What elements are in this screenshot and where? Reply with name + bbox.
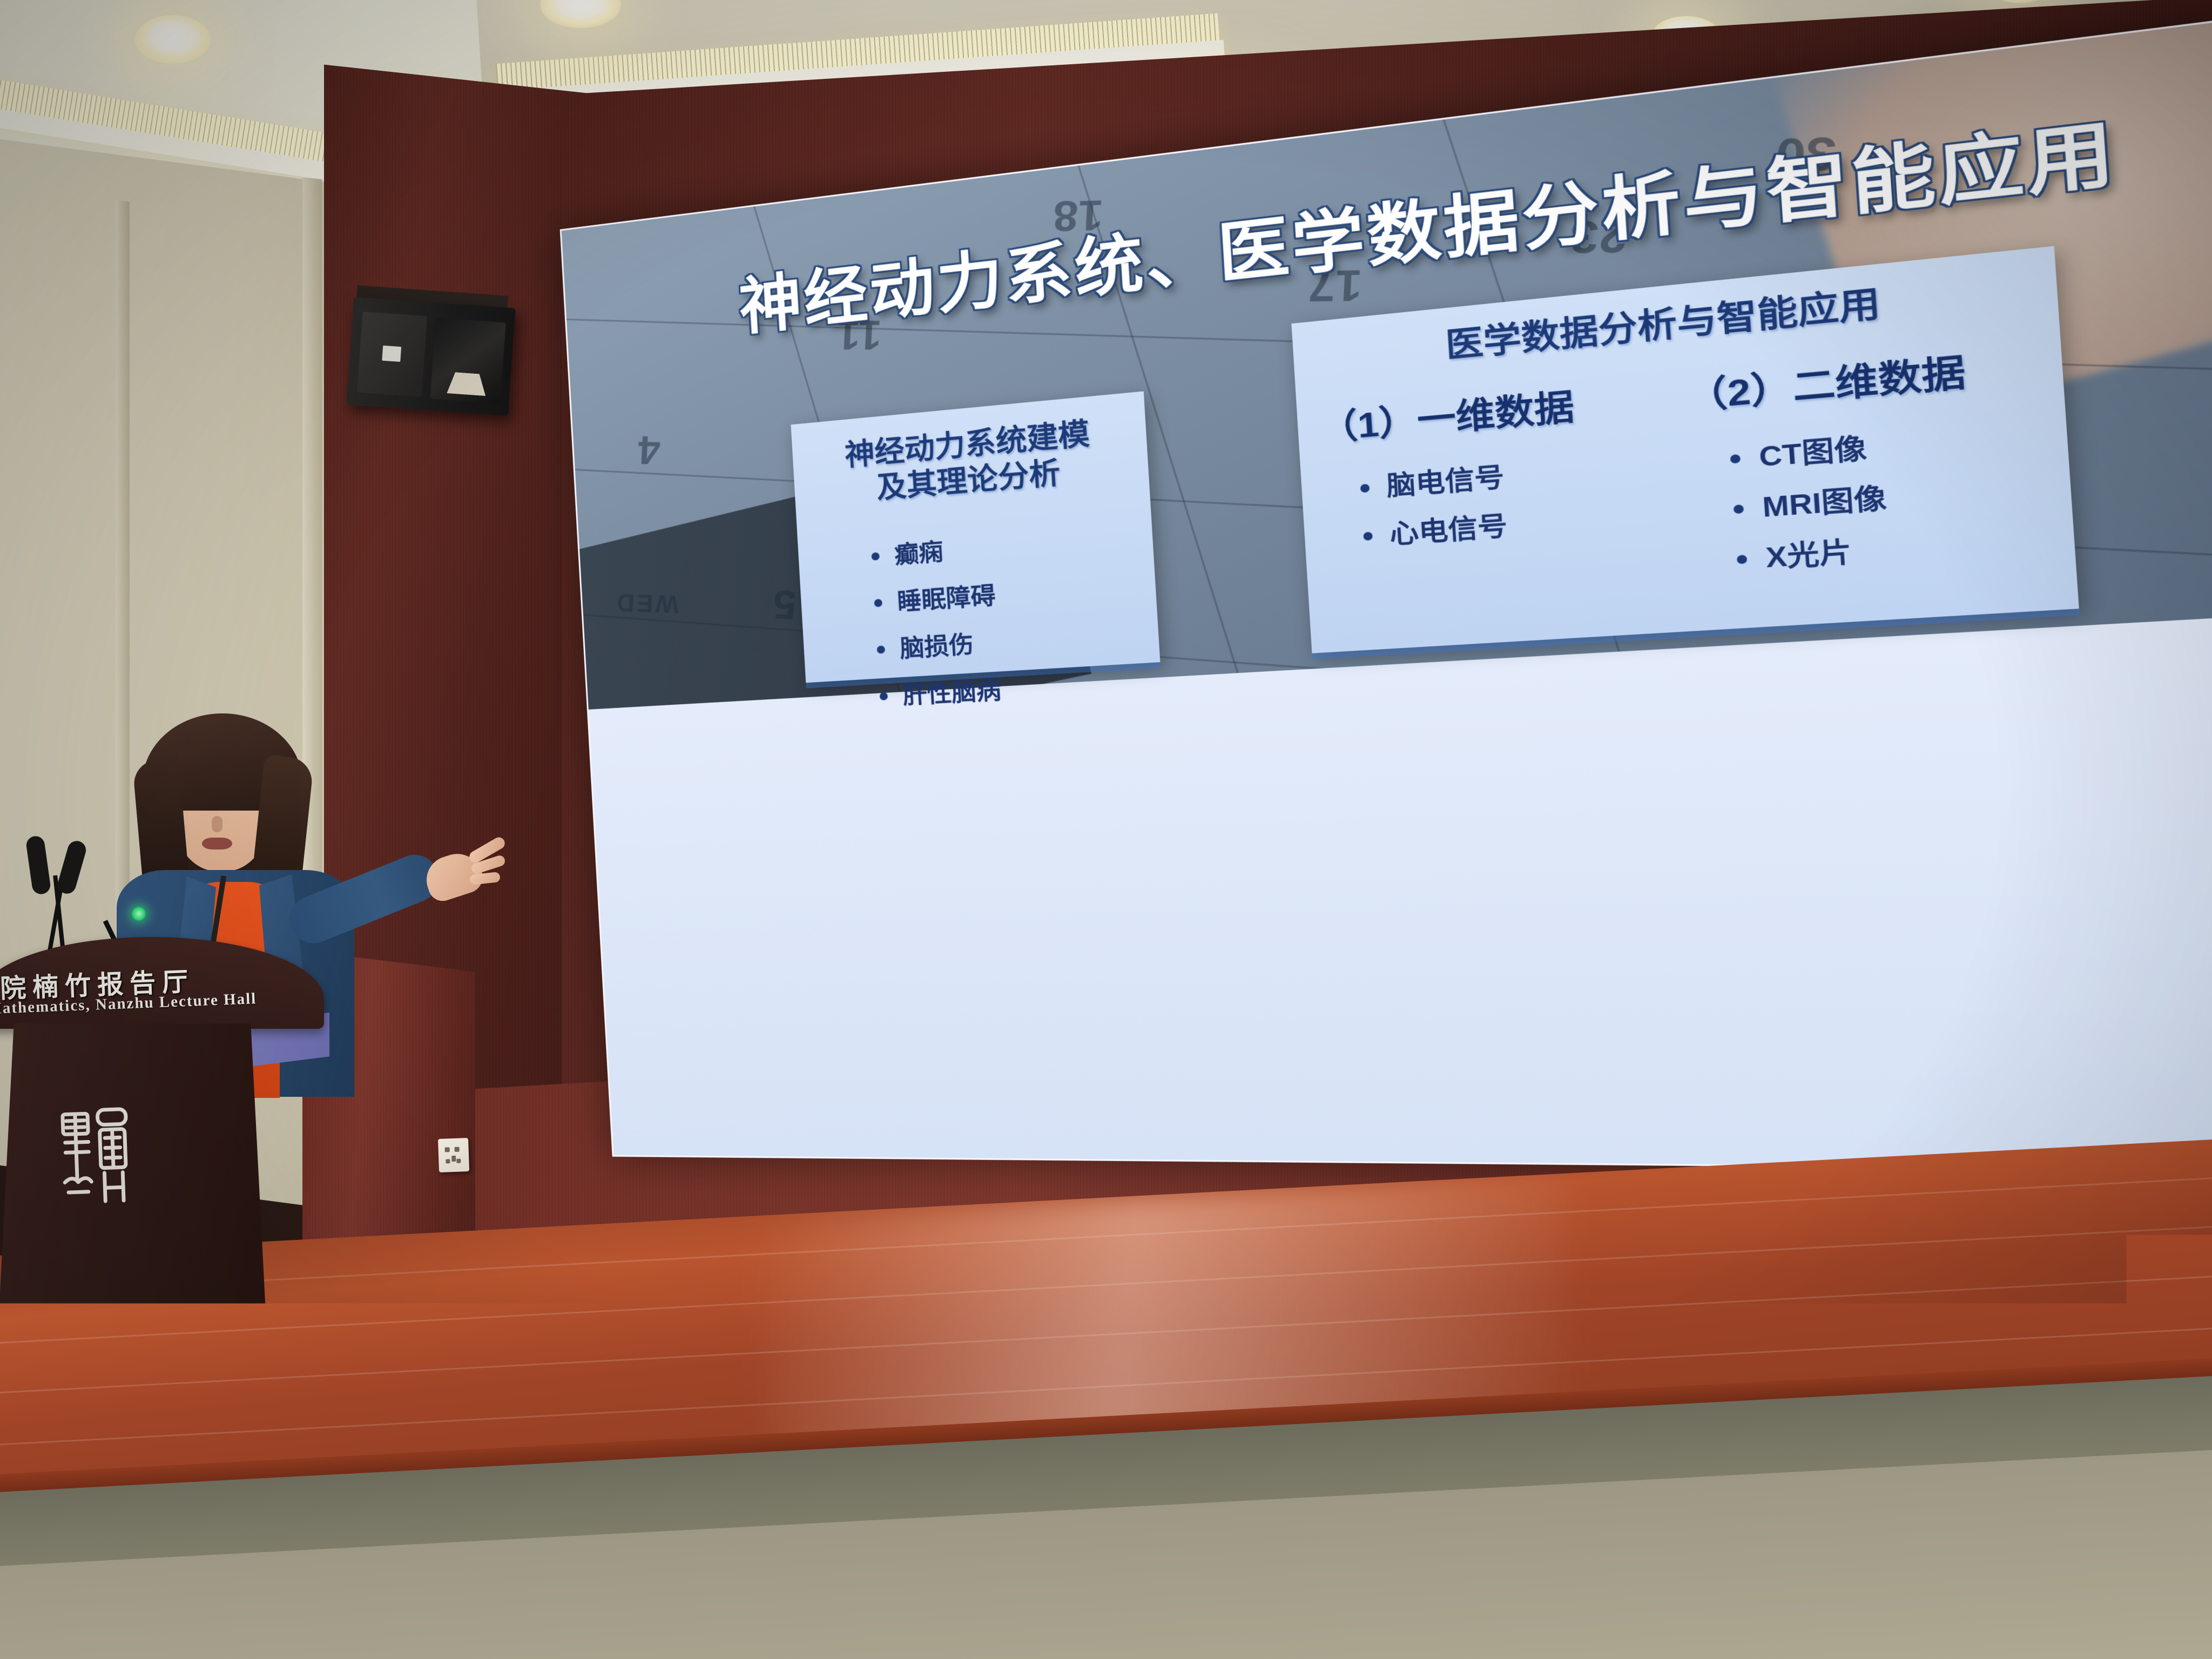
wall-speaker [346, 297, 515, 416]
card-right-column-1: （1）一维数据 脑电信号 心电信号 [1297, 370, 1674, 605]
list-item-label: 脑损伤 [899, 625, 974, 664]
bullet-dot-icon [880, 692, 888, 700]
bullet-dot-icon [871, 552, 880, 561]
bullet-dot-icon [1730, 454, 1741, 464]
list-item-label: 心电信号 [1388, 504, 1508, 552]
podium-base [0, 1391, 289, 1445]
university-seal-logo-icon [52, 1100, 143, 1211]
list-item-label: CT图像 [1758, 426, 1868, 475]
speaker-horn [430, 318, 506, 403]
card-right-column-2: （2）二维数据 CT图像 MRI图像 [1660, 334, 2075, 582]
bullet-dot-icon [1360, 484, 1370, 493]
list-item: 脑损伤 [876, 613, 1159, 665]
list-item: 癫痫 [871, 516, 1154, 572]
column-2-heading: （2）二维数据 [1684, 334, 2063, 420]
list-item-label: 脑电信号 [1385, 455, 1505, 503]
list-item-label: 睡眠障碍 [896, 576, 996, 618]
bullet-dot-icon [1737, 555, 1748, 565]
podium-body [0, 1023, 270, 1396]
bullet-dot-icon [1363, 532, 1373, 541]
podium: 学院楠竹报告厅 of Mathematics, Nanzhu Lecture H… [0, 937, 324, 1477]
list-item-label: X光片 [1764, 529, 1853, 576]
presenter-mouth [202, 838, 232, 849]
list-item: 睡眠障碍 [873, 565, 1157, 619]
bullet-dot-icon [874, 599, 882, 608]
microphone-indicator-led [132, 907, 146, 921]
list-item-label: 肝性脑病 [902, 671, 1002, 711]
jbl-logo-icon [382, 346, 401, 362]
column-1-heading: （1）一维数据 [1318, 370, 1663, 451]
bullet-dot-icon [876, 645, 885, 653]
list-item-label: MRI图像 [1761, 476, 1888, 525]
wall-power-outlet [438, 1138, 469, 1172]
presenter-arm [283, 848, 446, 950]
presenter-nose [212, 816, 222, 832]
slide-card-left: 神经动力系统建模 及其理论分析 癫痫 睡眠障碍 脑损伤 [791, 391, 1160, 683]
card-left-bullets: 癫痫 睡眠障碍 脑损伤 肝性脑病 [871, 516, 1163, 712]
ceiling-downlight [135, 15, 211, 64]
list-item-label: 癫痫 [893, 532, 944, 571]
bullet-dot-icon [1734, 504, 1744, 514]
podium-top: 学院楠竹报告厅 of Mathematics, Nanzhu Lecture H… [0, 937, 324, 1029]
lecture-hall-photo: 18 11 17 4 10 23 30 5 WED 神经动力系统、医学数据分析与… [0, 0, 2212, 1659]
